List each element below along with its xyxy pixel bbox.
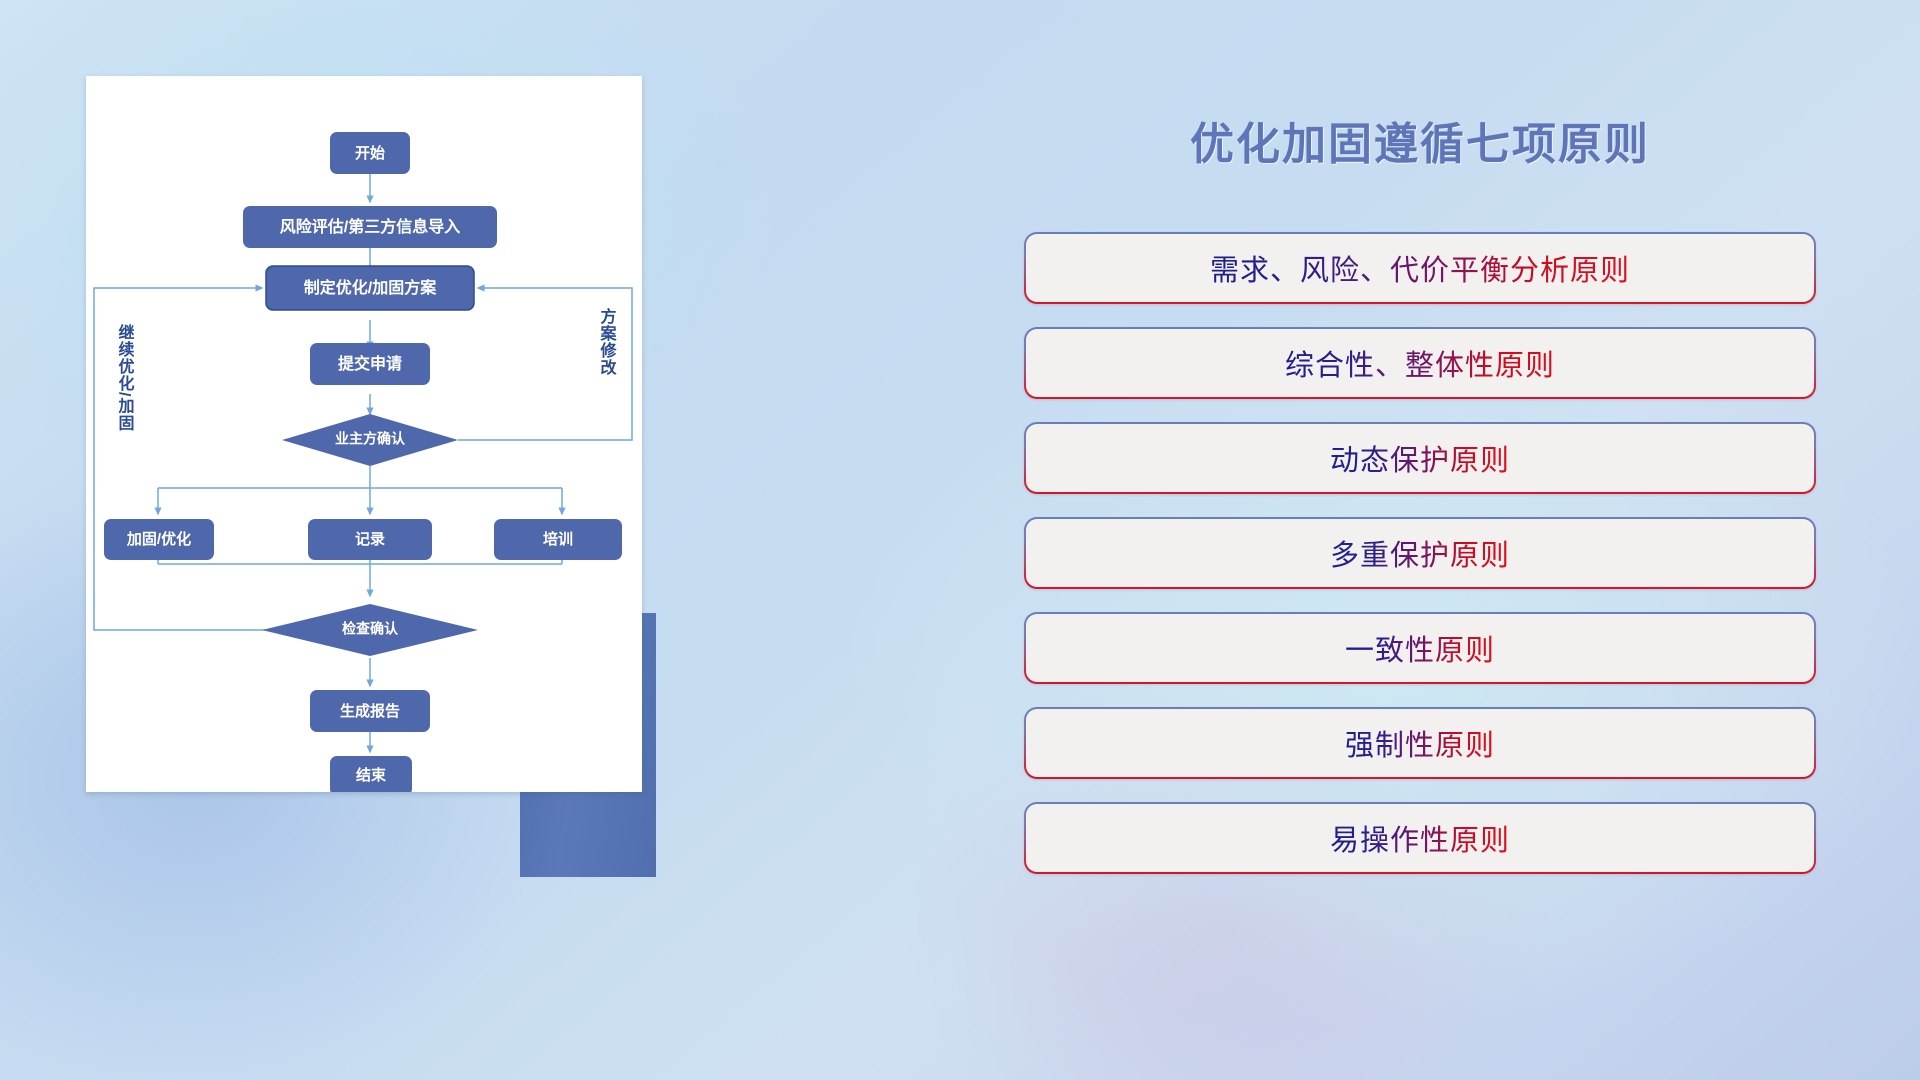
flow-node-risk: 风险评估/第三方信息导入 xyxy=(243,206,497,248)
principle-card-inner: 强制性原则 xyxy=(1026,709,1814,777)
flowchart-card: 开始 风险评估/第三方信息导入 制定优化/加固方案 提交申请 xyxy=(86,76,642,792)
principle-card[interactable]: 多重保护原则 xyxy=(1024,517,1816,589)
principle-card-label: 多重保护原则 xyxy=(1330,532,1510,574)
flow-edge-label-right: 方案修改 xyxy=(598,307,618,376)
principle-card-inner: 综合性、整体性原则 xyxy=(1026,329,1814,397)
flow-node-risk-label: 风险评估/第三方信息导入 xyxy=(280,217,460,236)
flow-node-owner-confirm: 业主方确认 xyxy=(282,414,458,466)
flow-node-submit-label: 提交申请 xyxy=(338,354,402,373)
flow-node-report: 生成报告 xyxy=(310,690,430,732)
principle-card-inner: 需求、风险、代价平衡分析原则 xyxy=(1026,234,1814,302)
flow-node-plan-label: 制定优化/加固方案 xyxy=(304,278,437,297)
principle-card[interactable]: 一致性原则 xyxy=(1024,612,1816,684)
flow-node-training: 培训 xyxy=(494,519,622,560)
flow-node-start-label: 开始 xyxy=(355,144,385,162)
principle-card[interactable]: 动态保护原则 xyxy=(1024,422,1816,494)
principles-list: 需求、风险、代价平衡分析原则 综合性、整体性原则 动态保护原则 多重保护原则 一… xyxy=(1024,232,1816,897)
principle-card-inner: 一致性原则 xyxy=(1026,614,1814,682)
flow-node-plan: 制定优化/加固方案 xyxy=(266,266,474,310)
principle-card-inner: 易操作性原则 xyxy=(1026,804,1814,872)
flow-edge-label-left: 继续优化/加固 xyxy=(116,323,136,431)
principle-card[interactable]: 易操作性原则 xyxy=(1024,802,1816,874)
principle-card[interactable]: 综合性、整体性原则 xyxy=(1024,327,1816,399)
flow-node-report-label: 生成报告 xyxy=(340,702,400,720)
slide-root: 开始 风险评估/第三方信息导入 制定优化/加固方案 提交申请 xyxy=(0,0,1920,1080)
principle-card-label: 易操作性原则 xyxy=(1330,817,1510,859)
flow-node-owner-confirm-label: 业主方确认 xyxy=(335,431,406,447)
flow-node-record: 记录 xyxy=(308,519,432,560)
principle-card[interactable]: 需求、风险、代价平衡分析原则 xyxy=(1024,232,1816,304)
flow-node-reinforce-label: 加固/优化 xyxy=(126,530,191,548)
flow-node-check-confirm-label: 检查确认 xyxy=(342,621,399,637)
flow-node-end: 结束 xyxy=(330,756,412,792)
flowchart-panel: 开始 风险评估/第三方信息导入 制定优化/加固方案 提交申请 xyxy=(86,76,726,806)
principle-card-inner: 多重保护原则 xyxy=(1026,519,1814,587)
principle-card-label: 需求、风险、代价平衡分析原则 xyxy=(1210,247,1630,289)
flowchart-svg: 开始 风险评估/第三方信息导入 制定优化/加固方案 提交申请 xyxy=(86,76,642,792)
flow-node-reinforce: 加固/优化 xyxy=(104,519,214,560)
flow-node-check-confirm: 检查确认 xyxy=(262,604,478,656)
flow-node-start: 开始 xyxy=(330,132,410,174)
principle-card-inner: 动态保护原则 xyxy=(1026,424,1814,492)
flow-node-submit: 提交申请 xyxy=(310,343,430,385)
principle-card-label: 动态保护原则 xyxy=(1330,437,1510,479)
flow-node-training-label: 培训 xyxy=(543,530,573,548)
flow-node-end-label: 结束 xyxy=(356,766,387,784)
principle-card-label: 强制性原则 xyxy=(1345,722,1495,764)
page-title: 优化加固遵循七项原则 xyxy=(1010,108,1830,172)
principle-card-label: 综合性、整体性原则 xyxy=(1285,342,1555,384)
flow-node-record-label: 记录 xyxy=(355,531,385,548)
principle-card-label: 一致性原则 xyxy=(1345,627,1495,669)
principle-card[interactable]: 强制性原则 xyxy=(1024,707,1816,779)
